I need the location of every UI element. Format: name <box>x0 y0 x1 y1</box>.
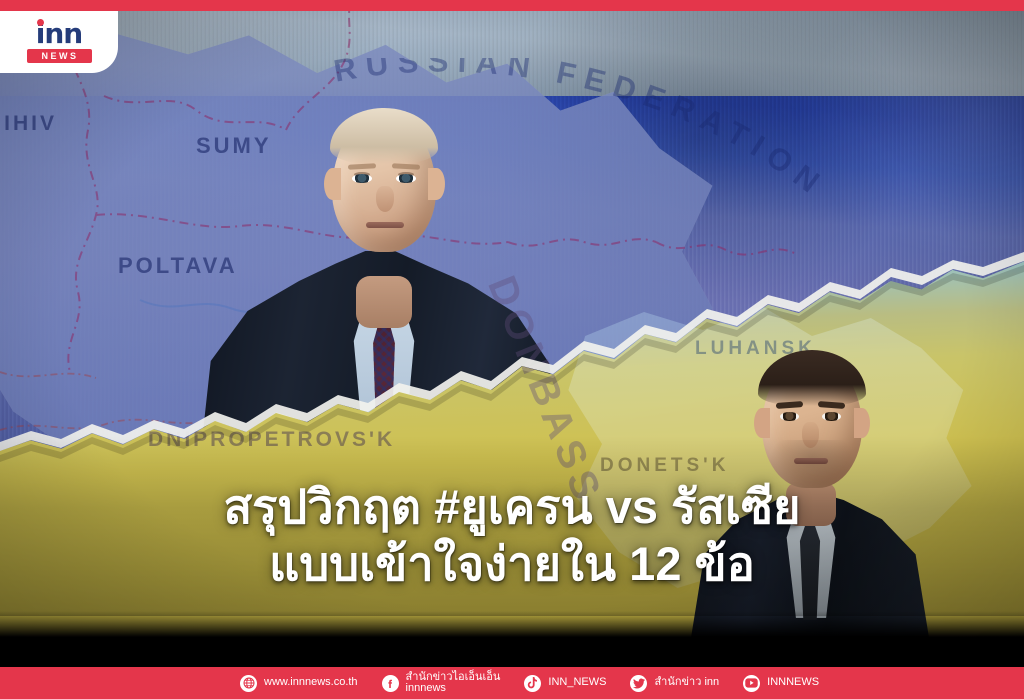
globe-icon <box>240 675 257 692</box>
youtube-icon <box>743 675 760 692</box>
zelensky-hair <box>758 350 866 406</box>
putin-ear-right <box>428 168 445 200</box>
footer-item-tiktok[interactable]: INN_NEWS <box>524 675 606 692</box>
zelensky-ear-left <box>754 408 770 438</box>
footer-website-line1: www.innnews.co.th <box>264 676 358 688</box>
logo-dot-icon <box>37 19 44 26</box>
footer-label-youtube: INNNEWS <box>767 677 819 689</box>
zelensky-neck <box>786 482 836 526</box>
putin-neck <box>356 276 412 328</box>
putin-eye-right <box>396 174 416 183</box>
footer-label-facebook: สำนักข่าวไอเอ็นเอ็น innnews <box>406 672 501 695</box>
footer-label-tiktok: INN_NEWS <box>548 677 606 689</box>
top-accent-bar <box>0 0 1024 11</box>
zelensky-ear-right <box>854 408 870 438</box>
twitter-icon <box>630 675 647 692</box>
zelensky-mouth <box>794 458 828 464</box>
footer-tiktok-line1: INN_NEWS <box>548 676 606 688</box>
footer-facebook-line1: สำนักข่าวไอเอ็นเอ็น <box>406 671 501 683</box>
tiktok-icon <box>524 675 541 692</box>
map-label-dnipropetrovsk: DNIPROPETROVS'K <box>148 428 395 452</box>
zelensky-portrait <box>690 328 930 644</box>
zelensky-eye-left <box>780 412 799 421</box>
inn-news-logo[interactable]: inn NEWS <box>0 11 118 73</box>
putin-mouth <box>366 222 404 228</box>
footer-social-bar: www.innnews.co.th สำนักข่าวไอเอ็นเอ็น in… <box>0 667 1024 699</box>
facebook-icon <box>382 675 399 692</box>
footer-label-twitter: สำนักข่าว inn <box>654 677 719 689</box>
map-label-chernihiv: NIHIV <box>0 112 57 136</box>
putin-nose <box>376 186 394 212</box>
footer-item-twitter[interactable]: สำนักข่าว inn <box>630 675 719 692</box>
black-bar <box>0 637 1024 667</box>
footer-item-facebook[interactable]: สำนักข่าวไอเอ็นเอ็น innnews <box>382 672 501 695</box>
black-bar-fade <box>0 611 1024 637</box>
footer-twitter-line1: สำนักข่าว inn <box>654 676 719 688</box>
footer-item-youtube[interactable]: INNNEWS <box>743 675 819 692</box>
footer-item-website[interactable]: www.innnews.co.th <box>240 675 358 692</box>
putin-hair <box>330 108 438 164</box>
zelensky-nose <box>802 422 819 448</box>
footer-label-website: www.innnews.co.th <box>264 677 358 689</box>
putin-eye-left <box>352 174 372 183</box>
news-poster: RUSSIAN FEDERATION NIHIV SUMY POLTAVA DN… <box>0 0 1024 699</box>
footer-facebook-line2: innnews <box>406 683 501 695</box>
footer-youtube-line1: INNNEWS <box>767 676 819 688</box>
putin-ear-left <box>324 168 341 200</box>
logo-wordmark: inn <box>36 21 82 47</box>
zelensky-eye-right <box>822 412 841 421</box>
logo-news-badge: NEWS <box>27 49 92 63</box>
